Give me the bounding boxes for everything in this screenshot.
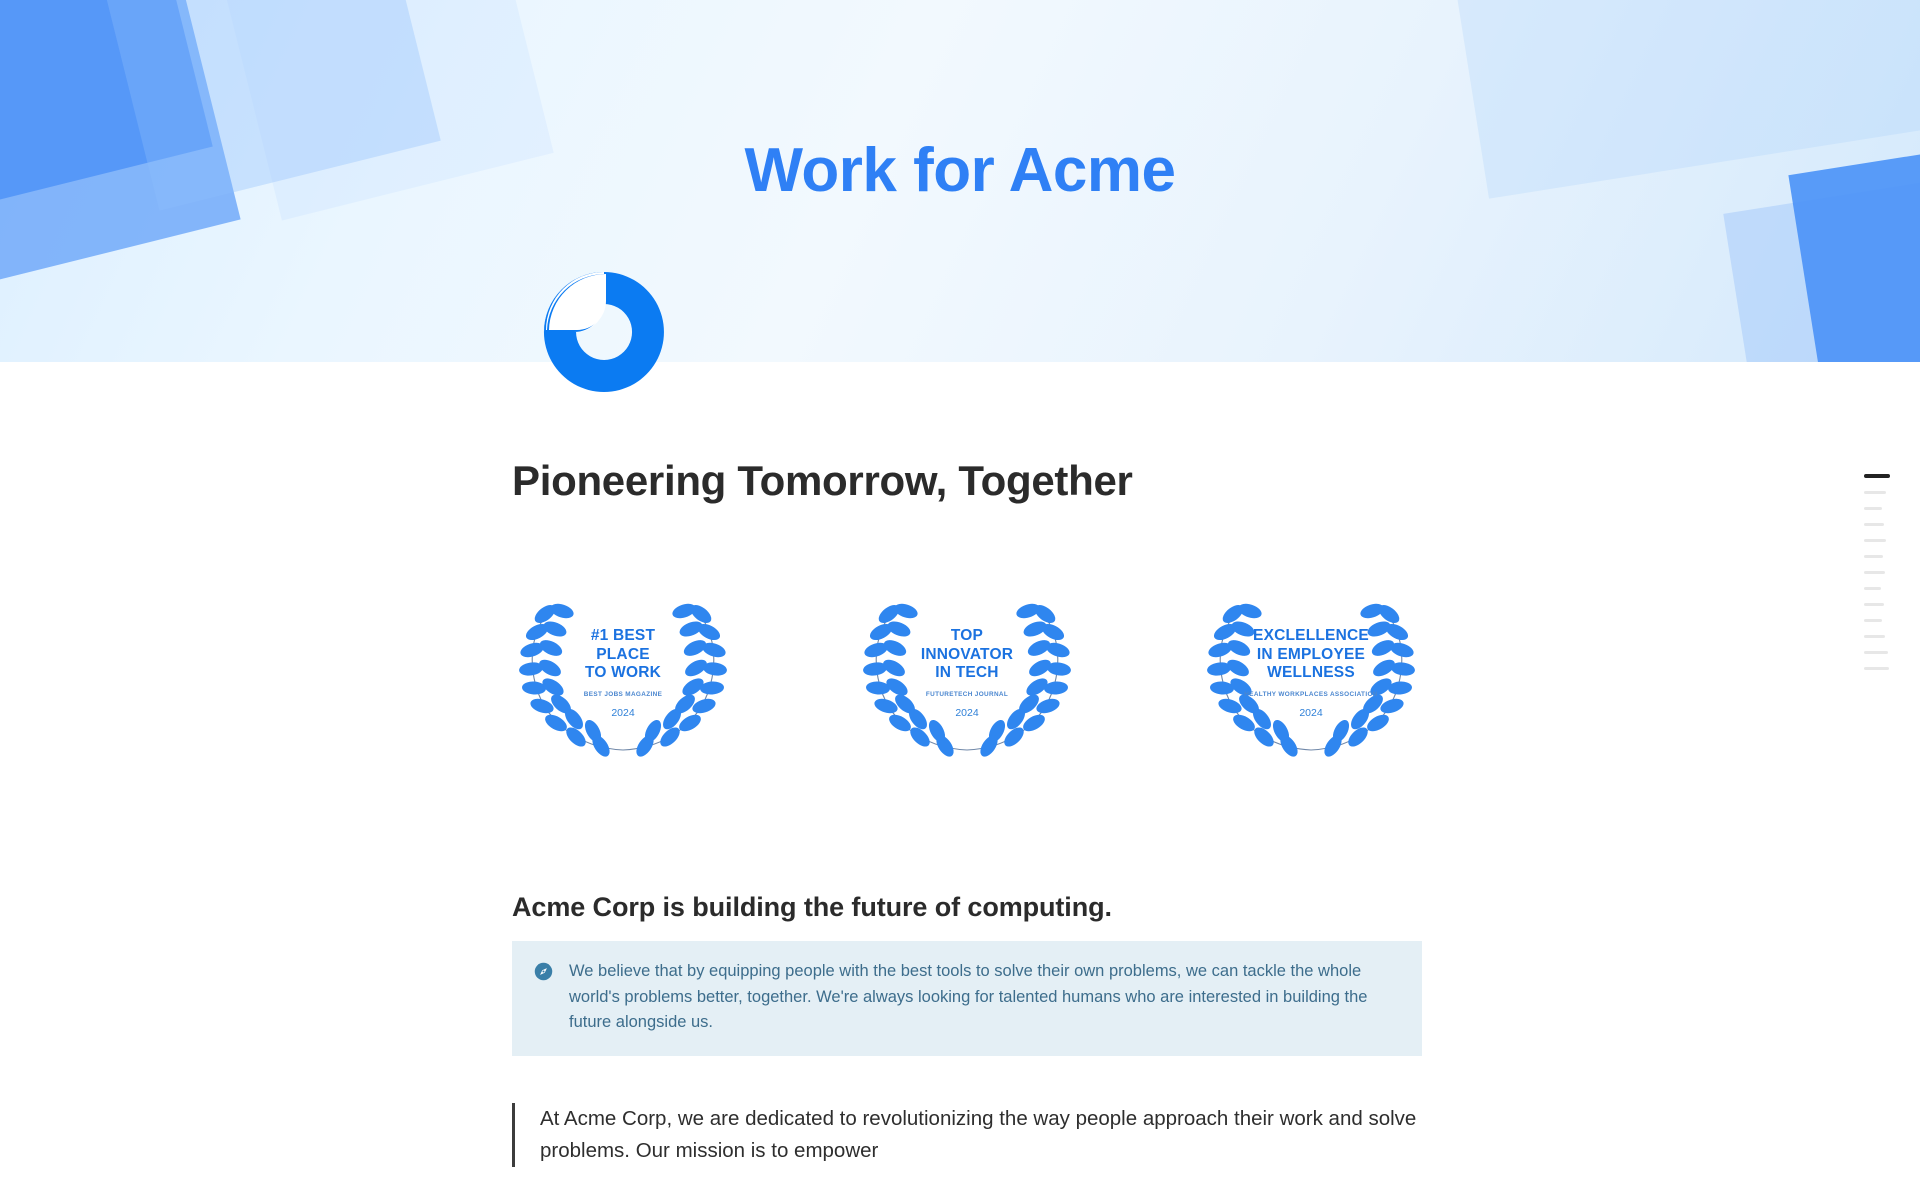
page-root: Work for Acme Pioneering Tomorrow, Toget… <box>0 0 1920 1199</box>
section-title: Acme Corp is building the future of comp… <box>512 892 1112 923</box>
minimap-mark[interactable] <box>1864 491 1886 494</box>
award-title-line: EXCLELLENCE <box>1241 627 1381 645</box>
minimap-mark[interactable] <box>1864 619 1882 622</box>
minimap-mark[interactable] <box>1864 507 1882 510</box>
minimap-mark[interactable] <box>1864 523 1884 526</box>
minimap-mark-active[interactable] <box>1864 474 1890 478</box>
award-year: 2024 <box>897 707 1037 719</box>
award-organization: FUTURETECH JOURNAL <box>897 691 1037 700</box>
award-title-line: #1 BEST <box>553 627 693 645</box>
callout-text: We believe that by equipping people with… <box>569 959 1400 1036</box>
compass-icon <box>534 962 553 986</box>
mission-callout: We believe that by equipping people with… <box>512 941 1422 1056</box>
award-title-line: PLACE <box>553 646 693 664</box>
award-badge: TOP INNOVATOR IN TECH FUTURETECH JOURNAL… <box>856 592 1078 760</box>
minimap-mark[interactable] <box>1864 555 1883 558</box>
award-organization: HEALTHY WORKPLACES ASSOCIATION <box>1241 691 1381 700</box>
award-title-line: TO WORK <box>553 664 693 682</box>
award-title-line: TOP <box>897 627 1037 645</box>
quote-text: At Acme Corp, we are dedicated to revolu… <box>540 1103 1432 1167</box>
award-year: 2024 <box>1241 707 1381 719</box>
scroll-minimap[interactable] <box>1864 474 1910 670</box>
minimap-mark[interactable] <box>1864 539 1886 542</box>
award-title-line: INNOVATOR <box>897 646 1037 664</box>
hero-banner: Work for Acme <box>0 0 1920 362</box>
hero-title: Work for Acme <box>0 135 1920 206</box>
award-title-line: WELLNESS <box>1241 664 1381 682</box>
minimap-mark[interactable] <box>1864 587 1881 590</box>
minimap-mark[interactable] <box>1864 571 1885 574</box>
award-badge: EXCLELLENCE IN EMPLOYEE WELLNESS HEALTHY… <box>1200 592 1422 760</box>
minimap-mark[interactable] <box>1864 651 1888 654</box>
minimap-mark[interactable] <box>1864 667 1889 670</box>
mission-quote: At Acme Corp, we are dedicated to revolu… <box>512 1103 1432 1167</box>
award-title-line: IN EMPLOYEE <box>1241 646 1381 664</box>
award-title-line: IN TECH <box>897 664 1037 682</box>
awards-row: #1 BEST PLACE TO WORK BEST JOBS MAGAZINE… <box>512 592 1422 760</box>
acme-logo <box>530 268 678 396</box>
award-year: 2024 <box>553 707 693 719</box>
minimap-mark[interactable] <box>1864 635 1885 638</box>
award-badge: #1 BEST PLACE TO WORK BEST JOBS MAGAZINE… <box>512 592 734 760</box>
minimap-mark[interactable] <box>1864 603 1884 606</box>
award-organization: BEST JOBS MAGAZINE <box>553 691 693 700</box>
page-title: Pioneering Tomorrow, Together <box>512 457 1133 505</box>
